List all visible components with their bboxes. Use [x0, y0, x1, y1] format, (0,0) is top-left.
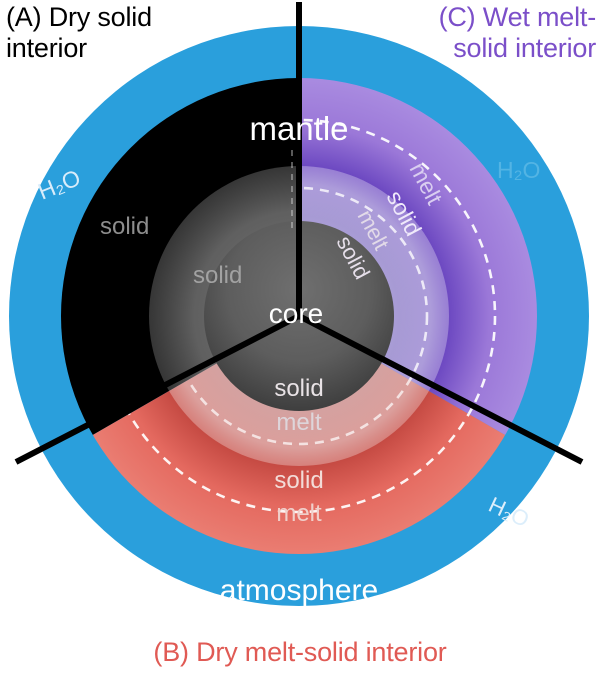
planetary-interior-diagram: mantle core atmosphere H₂O H₂O H₂O solid…: [0, 0, 600, 675]
sector-a-outer-solid: solid: [100, 213, 149, 240]
sector-b-inner-solid: solid: [274, 375, 323, 402]
sector-b-outer-solid: solid: [274, 467, 323, 494]
sector-b-outer-melt: melt: [276, 500, 322, 527]
core-label: core: [269, 298, 323, 329]
panel-label-c: (C) Wet melt- solid interior: [439, 2, 596, 64]
h2o-label-right-top: H₂O: [497, 157, 540, 183]
figure-canvas: mantle core atmosphere H₂O H₂O H₂O solid…: [0, 0, 600, 675]
atmosphere-label: atmosphere: [220, 574, 378, 607]
sector-b-inner-melt: melt: [276, 409, 322, 436]
panel-label-a: (A) Dry solid interior: [6, 2, 152, 64]
sector-a-inner-solid: solid: [193, 262, 242, 289]
mantle-label: mantle: [249, 110, 348, 147]
panel-label-b: (B) Dry melt-solid interior: [0, 637, 600, 668]
